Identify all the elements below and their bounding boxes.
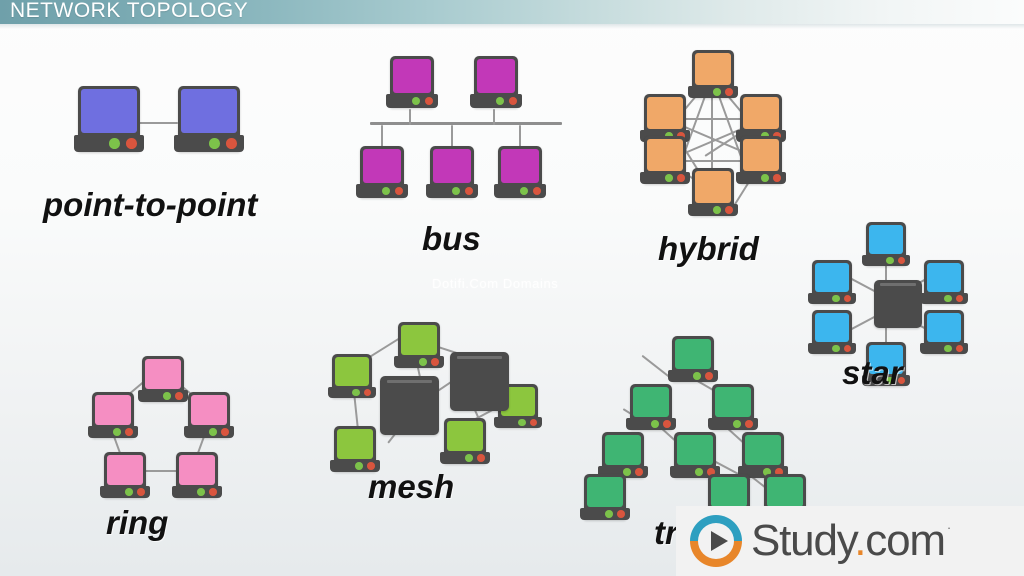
study-brand-name: Study — [751, 516, 854, 565]
led-green-icon — [382, 187, 390, 195]
monitor-screen — [181, 89, 237, 133]
topology-label-point-to-point: point-to-point — [43, 186, 257, 224]
monitor-base — [74, 135, 144, 152]
monitor-screen — [675, 339, 711, 369]
node-monitor — [692, 50, 734, 98]
led-red-icon — [745, 420, 753, 428]
monitor-screen — [695, 171, 731, 203]
led-red-icon — [773, 174, 781, 182]
play-circle-icon — [690, 515, 742, 567]
monitor-base — [100, 486, 150, 498]
monitor-screen — [815, 313, 849, 342]
monitor-screen — [815, 263, 849, 292]
led-green-icon — [832, 345, 839, 352]
monitor-screen — [95, 395, 131, 425]
node-monitor — [740, 94, 782, 142]
monitor-base — [494, 417, 542, 428]
monitor-screen — [363, 149, 401, 183]
server-cap — [457, 356, 502, 359]
led-red-icon — [221, 428, 229, 436]
header-shadow — [0, 24, 1024, 29]
monitor-base — [626, 418, 676, 430]
node-monitor — [812, 260, 852, 304]
node-monitor — [104, 452, 146, 498]
led-green-icon — [761, 174, 769, 182]
monitor-screen — [605, 435, 641, 465]
topology-mesh: mesh — [326, 318, 536, 518]
link-line — [381, 125, 383, 147]
monitor-screen — [869, 225, 903, 254]
monitor-screen — [179, 455, 215, 485]
node-monitor — [334, 426, 376, 472]
star-hub-server — [874, 280, 922, 328]
topology-star: star — [808, 222, 978, 397]
link-line — [493, 109, 495, 125]
monitor-screen — [745, 435, 781, 465]
node-monitor — [692, 168, 734, 216]
monitor-base — [328, 387, 376, 398]
monitor-screen — [145, 359, 181, 389]
monitor-screen — [927, 263, 961, 292]
monitor-base — [386, 94, 438, 108]
monitor-base — [920, 343, 968, 354]
monitor-screen — [927, 313, 961, 342]
monitor-screen — [477, 59, 515, 93]
monitor-screen — [107, 455, 143, 485]
monitor-base — [440, 452, 490, 464]
led-red-icon — [725, 88, 733, 96]
led-green-icon — [733, 420, 741, 428]
led-red-icon — [663, 420, 671, 428]
led-green-icon — [209, 138, 220, 149]
led-red-icon — [431, 358, 439, 366]
node-monitor — [584, 474, 626, 520]
monitor-screen — [337, 429, 373, 459]
led-green-icon — [209, 428, 217, 436]
led-red-icon — [533, 187, 541, 195]
led-green-icon — [886, 257, 893, 264]
study-brand-tld: com — [865, 516, 945, 565]
monitor-screen — [711, 477, 747, 507]
led-green-icon — [693, 372, 701, 380]
led-green-icon — [944, 295, 951, 302]
link-line — [519, 125, 521, 147]
monitor-screen — [715, 387, 751, 417]
led-red-icon — [725, 206, 733, 214]
node-monitor — [474, 56, 518, 108]
monitor-base — [356, 184, 408, 198]
led-red-icon — [226, 138, 237, 149]
node-monitor — [712, 384, 754, 430]
node-monitor — [924, 260, 964, 304]
monitor-screen — [647, 139, 683, 171]
node-monitor — [924, 310, 964, 354]
monitor-screen — [447, 421, 483, 451]
node-server — [380, 376, 439, 435]
led-red-icon — [477, 454, 485, 462]
monitor-base — [426, 184, 478, 198]
led-green-icon — [352, 389, 359, 396]
led-green-icon — [109, 138, 120, 149]
led-green-icon — [713, 206, 721, 214]
node-monitor — [674, 432, 716, 478]
led-red-icon — [137, 488, 145, 496]
monitor-screen — [587, 477, 623, 507]
led-red-icon — [635, 468, 643, 476]
bus-backbone-line — [370, 122, 562, 125]
led-green-icon — [163, 392, 171, 400]
node-monitor — [672, 336, 714, 382]
led-red-icon — [395, 187, 403, 195]
monitor-base — [174, 135, 244, 152]
monitor-screen — [81, 89, 137, 133]
node-server — [450, 352, 509, 411]
server-cap — [880, 283, 916, 285]
monitor-base — [580, 508, 630, 520]
header-bar: NETWORK TOPOLOGY — [0, 0, 1024, 24]
led-green-icon — [197, 488, 205, 496]
led-red-icon — [364, 389, 371, 396]
led-red-icon — [844, 295, 851, 302]
led-green-icon — [465, 454, 473, 462]
monitor-base — [184, 426, 234, 438]
led-red-icon — [617, 510, 625, 518]
monitor-base — [470, 94, 522, 108]
led-red-icon — [425, 97, 433, 105]
monitor-screen — [393, 59, 431, 93]
led-red-icon — [126, 138, 137, 149]
node-monitor — [644, 94, 686, 142]
link-line — [138, 122, 178, 124]
node-monitor — [92, 392, 134, 438]
node-monitor — [498, 146, 542, 198]
monitor-screen — [743, 139, 779, 171]
node-monitor — [866, 222, 906, 266]
topology-label-mesh: mesh — [368, 468, 454, 506]
monitor-base — [808, 343, 856, 354]
led-green-icon — [113, 428, 121, 436]
led-green-icon — [605, 510, 613, 518]
monitor-screen — [433, 149, 471, 183]
monitor-base — [688, 204, 738, 216]
monitor-screen — [633, 387, 669, 417]
led-red-icon — [898, 257, 905, 264]
topology-label-star: star — [842, 354, 903, 392]
led-red-icon — [125, 428, 133, 436]
monitor-screen — [191, 395, 227, 425]
monitor-screen — [335, 357, 369, 386]
node-monitor — [602, 432, 644, 478]
led-red-icon — [677, 174, 685, 182]
led-red-icon — [509, 97, 517, 105]
monitor-screen — [743, 97, 779, 129]
monitor-screen — [647, 97, 683, 129]
led-green-icon — [496, 97, 504, 105]
led-green-icon — [695, 468, 703, 476]
node-monitor — [740, 136, 782, 184]
topology-label-hybrid: hybrid — [658, 230, 759, 268]
study-brand-dot: . — [854, 516, 865, 565]
page-title: NETWORK TOPOLOGY — [10, 0, 248, 23]
slide-canvas: NETWORK TOPOLOGY point-to-point — [0, 0, 1024, 576]
node-monitor — [398, 322, 440, 368]
led-green-icon — [832, 295, 839, 302]
play-triangle-icon — [711, 531, 728, 551]
monitor-base — [494, 184, 546, 198]
led-green-icon — [713, 88, 721, 96]
monitor-base — [688, 86, 738, 98]
led-green-icon — [520, 187, 528, 195]
node-monitor — [444, 418, 486, 464]
node-monitor — [644, 136, 686, 184]
node-monitor — [188, 392, 230, 438]
node-monitor — [390, 56, 434, 108]
led-red-icon — [209, 488, 217, 496]
led-red-icon — [844, 345, 851, 352]
led-green-icon — [665, 174, 673, 182]
led-red-icon — [175, 392, 183, 400]
node-monitor — [332, 354, 372, 398]
led-green-icon — [518, 419, 525, 426]
led-red-icon — [956, 345, 963, 352]
monitor-screen — [767, 477, 803, 507]
topology-hybrid: hybrid — [636, 44, 816, 244]
monitor-screen — [401, 325, 437, 355]
node-monitor — [742, 432, 784, 478]
monitor-base — [862, 255, 910, 266]
monitor-base — [808, 293, 856, 304]
monitor-base — [920, 293, 968, 304]
server-cap — [387, 380, 432, 383]
led-green-icon — [412, 97, 420, 105]
led-red-icon — [465, 187, 473, 195]
monitor-screen — [695, 53, 731, 85]
led-green-icon — [125, 488, 133, 496]
node-monitor — [78, 86, 140, 152]
led-green-icon — [355, 462, 363, 470]
monitor-base — [138, 390, 188, 402]
led-green-icon — [452, 187, 460, 195]
topology-bus: bus — [368, 50, 568, 230]
led-red-icon — [956, 295, 963, 302]
study-trademark-mark: · — [947, 520, 951, 535]
node-monitor — [812, 310, 852, 354]
topology-ring: ring — [88, 356, 248, 546]
study-logo-badge[interactable]: Study.com · — [676, 506, 1024, 576]
node-monitor — [178, 86, 240, 152]
monitor-base — [394, 356, 444, 368]
led-green-icon — [944, 345, 951, 352]
led-green-icon — [651, 420, 659, 428]
node-monitor — [430, 146, 474, 198]
monitor-base — [88, 426, 138, 438]
center-watermark: Dotifi.Com Domains — [432, 276, 558, 291]
node-monitor — [142, 356, 184, 402]
monitor-base — [640, 172, 690, 184]
study-wordmark: Study.com — [751, 516, 945, 566]
link-line — [409, 109, 411, 125]
link-line — [451, 125, 453, 147]
monitor-screen — [501, 149, 539, 183]
led-green-icon — [419, 358, 427, 366]
monitor-screen — [677, 435, 713, 465]
monitor-base — [736, 172, 786, 184]
topology-label-ring: ring — [106, 504, 168, 542]
led-red-icon — [530, 419, 537, 426]
monitor-base — [668, 370, 718, 382]
node-monitor — [630, 384, 672, 430]
led-red-icon — [705, 372, 713, 380]
monitor-base — [172, 486, 222, 498]
node-monitor — [176, 452, 218, 498]
topology-point-to-point: point-to-point — [60, 78, 300, 238]
monitor-base — [708, 418, 758, 430]
node-monitor — [360, 146, 404, 198]
topology-label-bus: bus — [422, 220, 481, 258]
